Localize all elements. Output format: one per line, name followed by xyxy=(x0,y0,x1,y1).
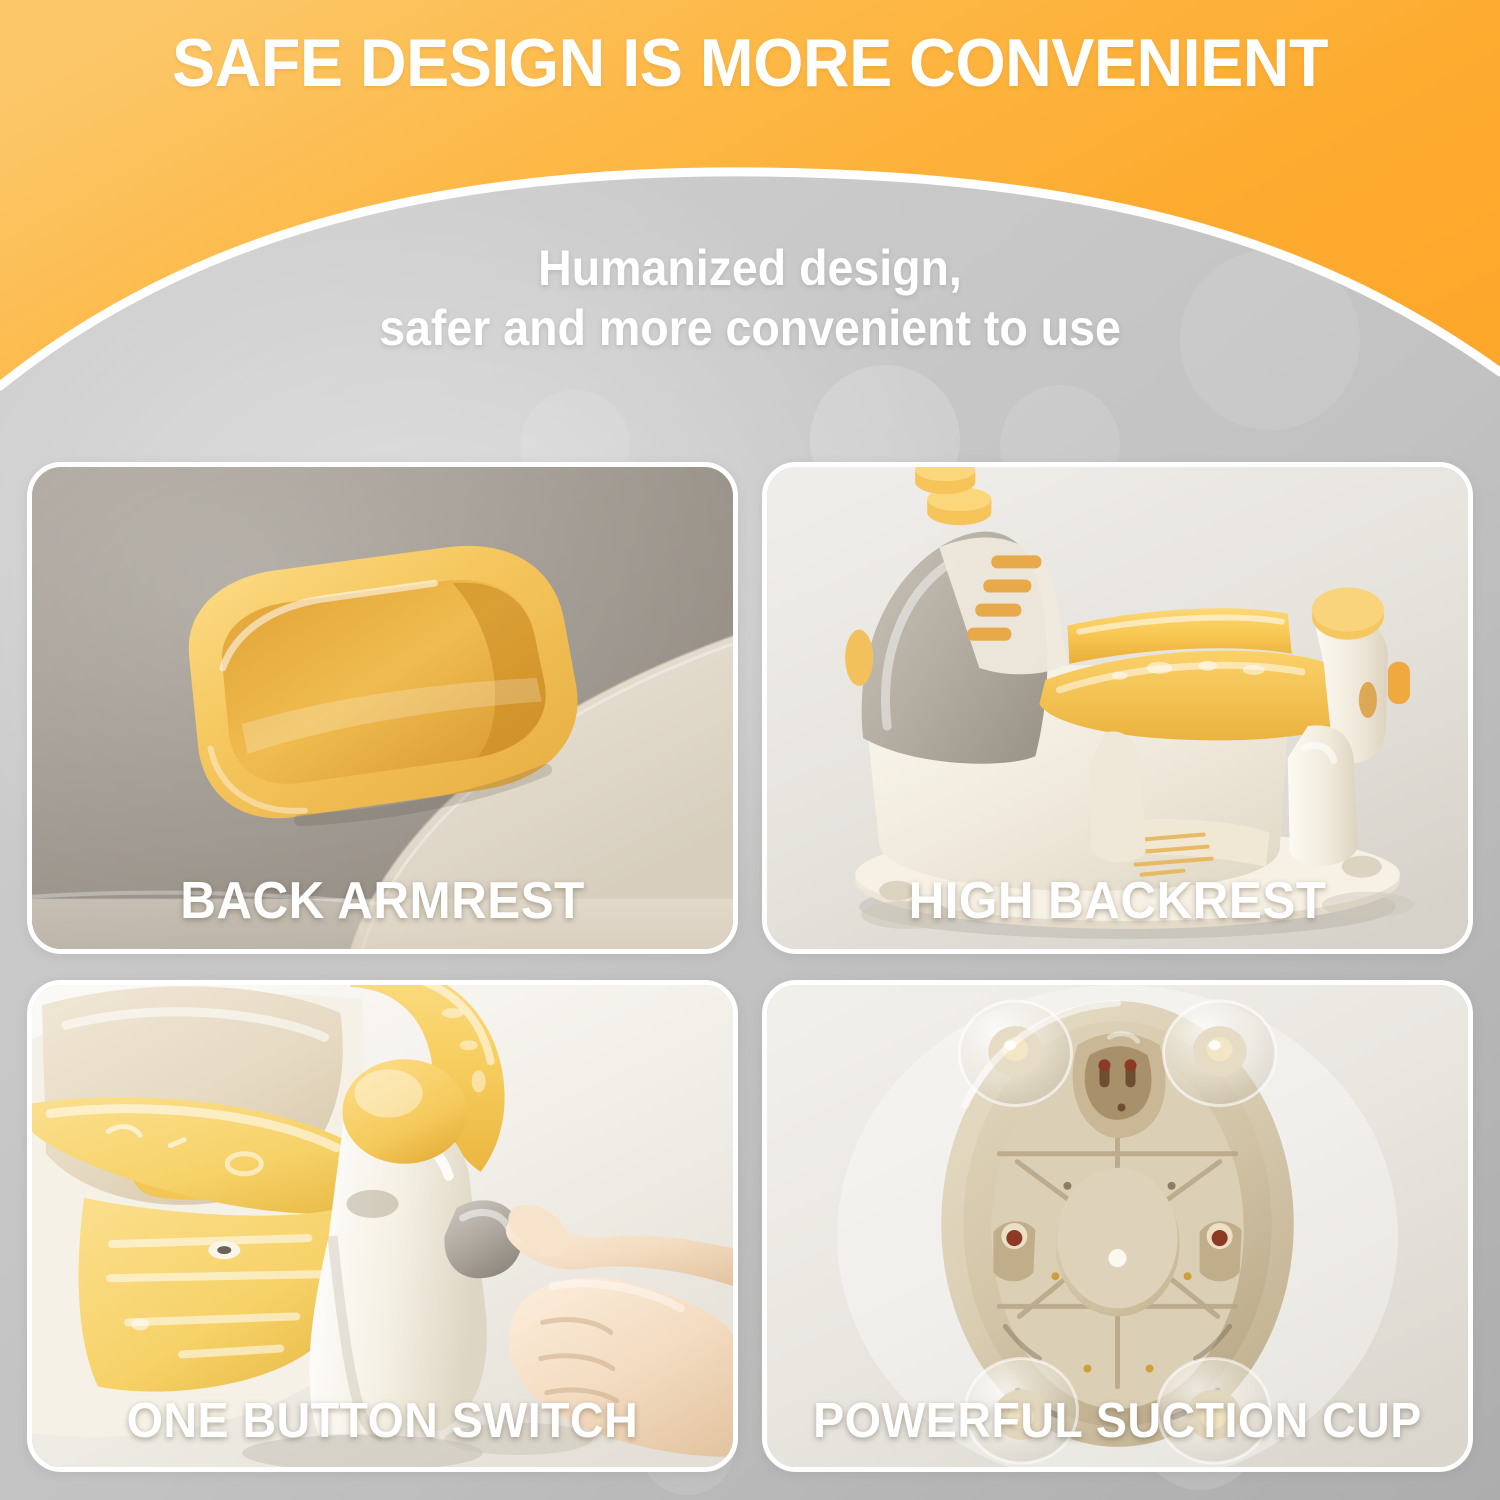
subtitle-line-1: Humanized design, xyxy=(53,238,1448,298)
page-subtitle: Humanized design, safer and more conveni… xyxy=(53,238,1448,358)
panel-label-back-armrest: BACK ARMREST xyxy=(50,871,716,931)
panel-label-high-backrest: HIGH BACKREST xyxy=(785,871,1451,931)
page-title: SAFE DESIGN IS MORE CONVENIENT xyxy=(38,24,1463,102)
header-banner: SAFE DESIGN IS MORE CONVENIENT Humanized… xyxy=(0,0,1500,420)
subtitle-line-2: safer and more convenient to use xyxy=(53,298,1448,358)
product-infographic: SAFE DESIGN IS MORE CONVENIENT Humanized… xyxy=(0,0,1500,1500)
feature-panel-back-armrest[interactable]: BACK ARMREST xyxy=(27,462,738,954)
panel-label-powerful-suction-cup: POWERFUL SUCTION CUP xyxy=(785,1393,1451,1449)
feature-panel-grid: BACK ARMREST xyxy=(27,462,1473,1472)
feature-panel-high-backrest[interactable]: HIGH BACKREST xyxy=(762,462,1473,954)
panel-label-one-button-switch: ONE BUTTON SWITCH xyxy=(50,1393,716,1449)
feature-panel-one-button-switch[interactable]: ONE BUTTON SWITCH xyxy=(27,980,738,1472)
feature-panel-powerful-suction-cup[interactable]: POWERFUL SUCTION CUP xyxy=(762,980,1473,1472)
